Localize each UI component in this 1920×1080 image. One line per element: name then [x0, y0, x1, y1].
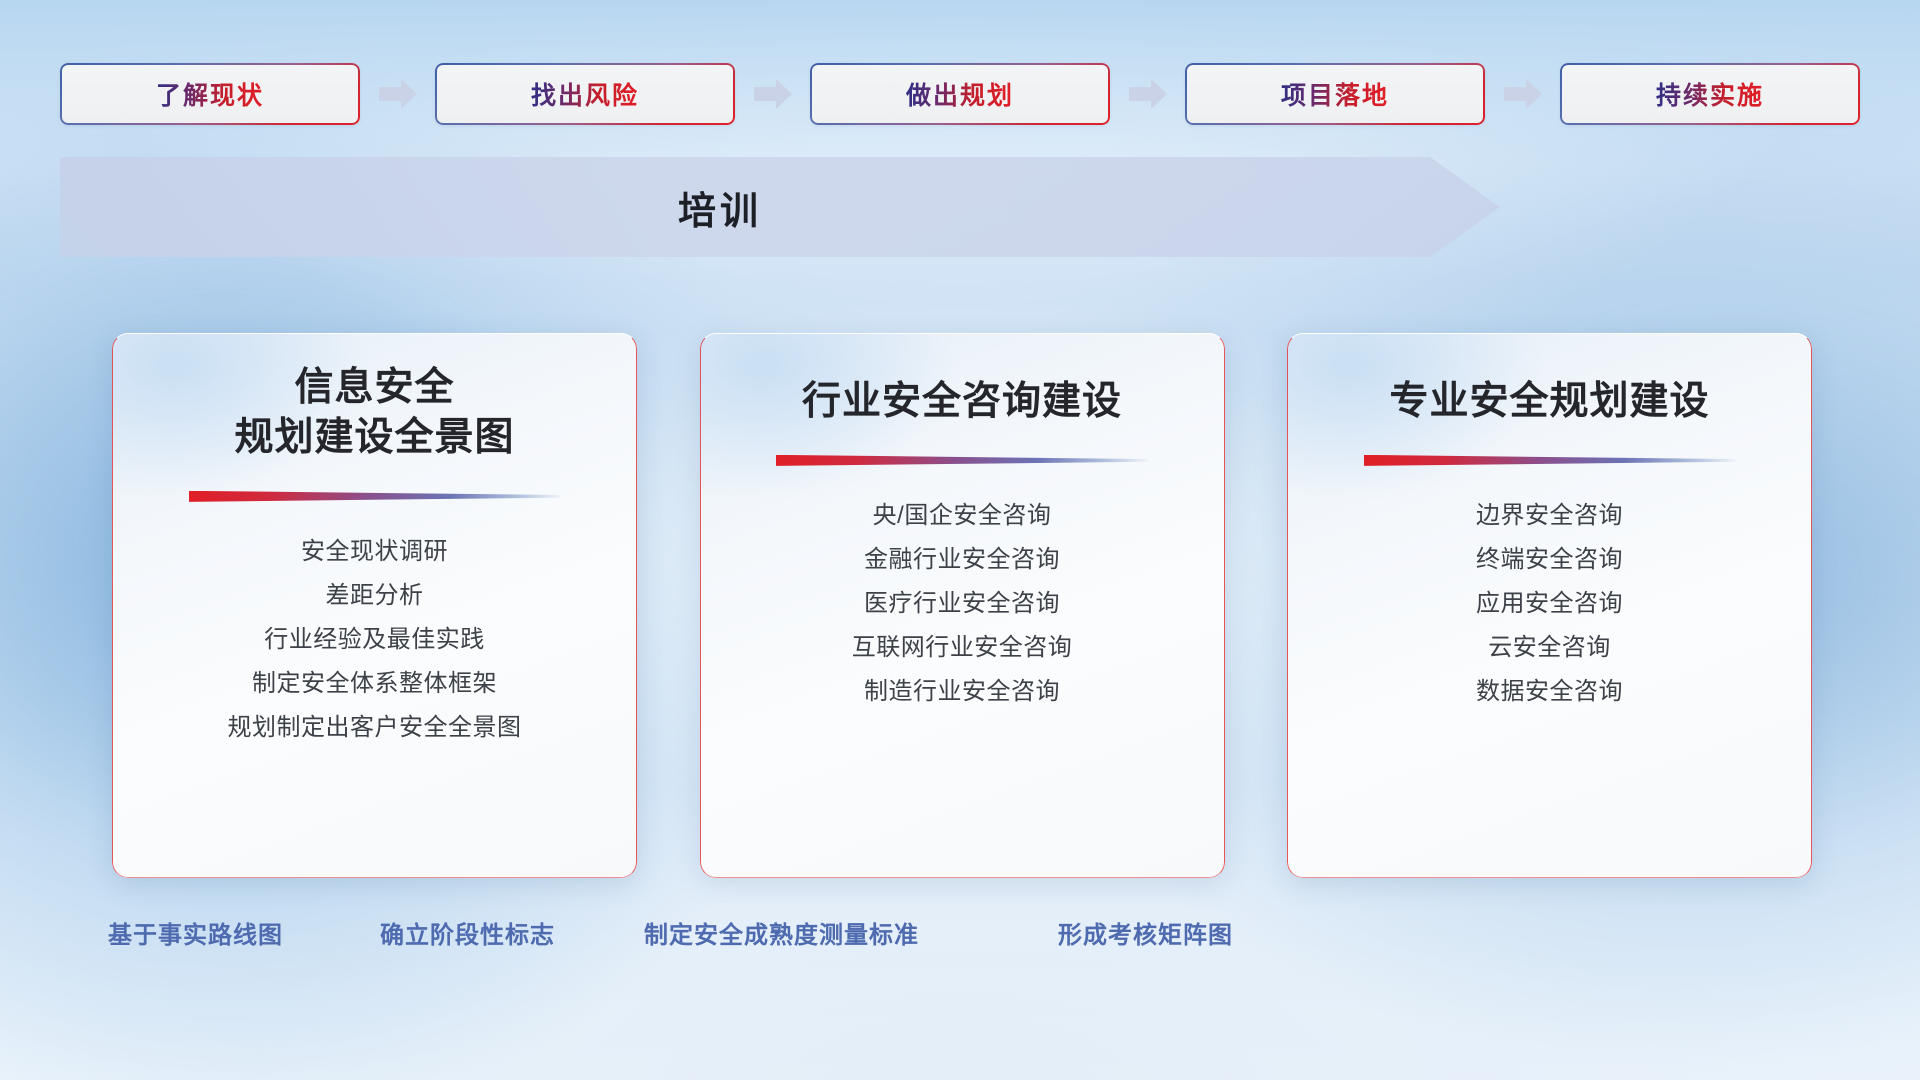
card-title: 专业安全规划建设	[1365, 377, 1733, 427]
card-professional-planning[interactable]: 专业安全规划建设 边界安全咨询 终端安全咨询 应用安全咨询 云安全咨询 数据安全…	[1287, 333, 1812, 878]
card-title: 信息安全 规划建设全景图	[210, 363, 538, 463]
footnote-maturity: 制定安全成熟度测量标准	[644, 915, 919, 950]
step-label: 做出规划	[906, 76, 1014, 112]
list-item: 云安全咨询	[1476, 626, 1623, 670]
list-item: 互联网行业安全咨询	[852, 626, 1073, 670]
card-title-line: 专业安全规划建设	[1389, 377, 1709, 427]
list-item: 数据安全咨询	[1476, 670, 1623, 714]
footnote-row: 基于事实路线图 确立阶段性标志 制定安全成熟度测量标准 形成考核矩阵图	[0, 915, 1920, 955]
right-arrow-icon	[752, 77, 794, 111]
card-title-line: 信息安全	[234, 363, 514, 413]
step-item-2[interactable]: 找出风险	[435, 63, 735, 125]
list-item: 终端安全咨询	[1476, 538, 1623, 582]
list-item: 安全现状调研	[228, 530, 522, 574]
list-item: 行业经验及最佳实践	[228, 618, 522, 662]
card-group: 信息安全 规划建设全景图 安全现状调研 差距分析 行业经验及最佳实践 制定安全体…	[112, 333, 1812, 878]
step-label: 持续实施	[1656, 76, 1764, 112]
training-banner: 培训	[60, 157, 1500, 257]
card-title-line: 行业安全咨询建设	[802, 377, 1122, 427]
right-arrow-icon	[1502, 77, 1544, 111]
list-item: 规划制定出客户安全全景图	[228, 706, 522, 750]
list-item: 金融行业安全咨询	[852, 538, 1073, 582]
gradient-rule-icon	[776, 455, 1148, 466]
step-item-5[interactable]: 持续实施	[1560, 63, 1860, 125]
card-list: 边界安全咨询 终端安全咨询 应用安全咨询 云安全咨询 数据安全咨询	[1476, 494, 1623, 714]
card-title: 行业安全咨询建设	[778, 377, 1146, 427]
step-label: 了解现状	[156, 76, 264, 112]
list-item: 央/国企安全咨询	[852, 494, 1073, 538]
step-label: 找出风险	[531, 76, 639, 112]
step-label: 项目落地	[1281, 76, 1389, 112]
footnote-matrix: 形成考核矩阵图	[1058, 915, 1233, 950]
banner-label: 培训	[60, 157, 1500, 257]
step-item-3[interactable]: 做出规划	[810, 63, 1110, 125]
list-item: 医疗行业安全咨询	[852, 582, 1073, 626]
card-industry-consulting[interactable]: 行业安全咨询建设 央/国企安全咨询 金融行业安全咨询 医疗行业安全咨询 互联网行…	[700, 333, 1225, 878]
footnote-milestone: 确立阶段性标志	[380, 915, 555, 950]
list-item: 应用安全咨询	[1476, 582, 1623, 626]
step-item-4[interactable]: 项目落地	[1185, 63, 1485, 125]
gradient-rule-icon	[189, 491, 561, 502]
list-item: 制定安全体系整体框架	[228, 662, 522, 706]
step-item-1[interactable]: 了解现状	[60, 63, 360, 125]
list-item: 差距分析	[228, 574, 522, 618]
right-arrow-icon	[377, 77, 419, 111]
list-item: 制造行业安全咨询	[852, 670, 1073, 714]
card-overview[interactable]: 信息安全 规划建设全景图 安全现状调研 差距分析 行业经验及最佳实践 制定安全体…	[112, 333, 637, 878]
card-title-line: 规划建设全景图	[234, 413, 514, 463]
list-item: 边界安全咨询	[1476, 494, 1623, 538]
right-arrow-icon	[1127, 77, 1169, 111]
gradient-rule-icon	[1364, 455, 1736, 466]
process-steps: 了解现状 找出风险 做出规划 项目落地 持续实施	[60, 63, 1860, 125]
footnote-roadmap: 基于事实路线图	[108, 915, 283, 950]
card-list: 安全现状调研 差距分析 行业经验及最佳实践 制定安全体系整体框架 规划制定出客户…	[228, 530, 522, 750]
card-list: 央/国企安全咨询 金融行业安全咨询 医疗行业安全咨询 互联网行业安全咨询 制造行…	[852, 494, 1073, 714]
